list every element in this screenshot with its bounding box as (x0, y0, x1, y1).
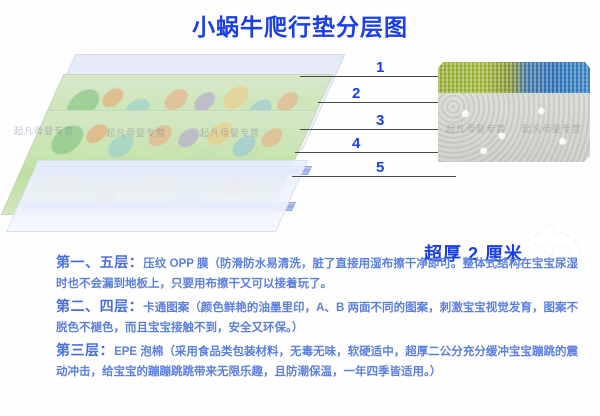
description-paragraph-2: 第二、四层：卡通图案（颜色鲜艳的油墨里印，A、B 两面不同的图案，刺激宝宝视觉发… (0, 296, 600, 338)
leader-line-3 (300, 129, 448, 130)
layer-number-5: 5 (376, 160, 384, 175)
cross-section-block: 起凡母婴专营 起凡母婴专营 (438, 62, 590, 162)
description-heading-1: 第一、五层： (56, 254, 143, 270)
diagram-area: 起凡母婴专营 起凡母婴专营 起凡母婴专营 1 2 3 4 5 起凡母婴专营 起凡… (0, 48, 600, 248)
leader-line-5 (292, 176, 456, 177)
leader-line-2 (318, 102, 450, 103)
description-paragraph-3: 第三层：EPE 泡棉（采用食品类包装材料，无毒无味，软硬适中，超厚二公分充分缓冲… (0, 340, 600, 382)
layer-number-2: 2 (352, 86, 360, 101)
layer-number-1: 1 (376, 60, 384, 75)
product-layer-diagram-page: 小蜗牛爬行垫分层图 起凡母婴专营 起凡母婴专营 起凡母婴专营 1 2 3 4 5 (0, 0, 600, 416)
leader-line-4 (295, 152, 452, 153)
page-title: 小蜗牛爬行垫分层图 (0, 8, 600, 42)
cross-section-surface (438, 62, 590, 95)
mat-layer-stack: 起凡母婴专营 起凡母婴专营 起凡母婴专营 (10, 48, 330, 248)
layer-number-3: 3 (376, 113, 384, 128)
cross-section-foam-core (438, 93, 590, 162)
description-heading-2: 第二、四层： (56, 298, 143, 314)
description-body-3: EPE 泡棉（采用食品类包装材料，无毒无味，软硬适中，超厚二公分充分缓冲宝宝蹦跳… (56, 346, 578, 378)
leader-line-1 (300, 76, 448, 77)
description-block: 第一、五层：压纹 OPP 膜（防滑防水易清洗，脏了直接用湿布擦干净即可。整体式结… (0, 252, 600, 384)
description-heading-3: 第三层： (56, 342, 114, 358)
description-paragraph-1: 第一、五层：压纹 OPP 膜（防滑防水易清洗，脏了直接用湿布擦干净即可。整体式结… (0, 252, 600, 294)
layer-number-4: 4 (352, 136, 360, 151)
layer-opp-film-bottom (6, 160, 308, 232)
